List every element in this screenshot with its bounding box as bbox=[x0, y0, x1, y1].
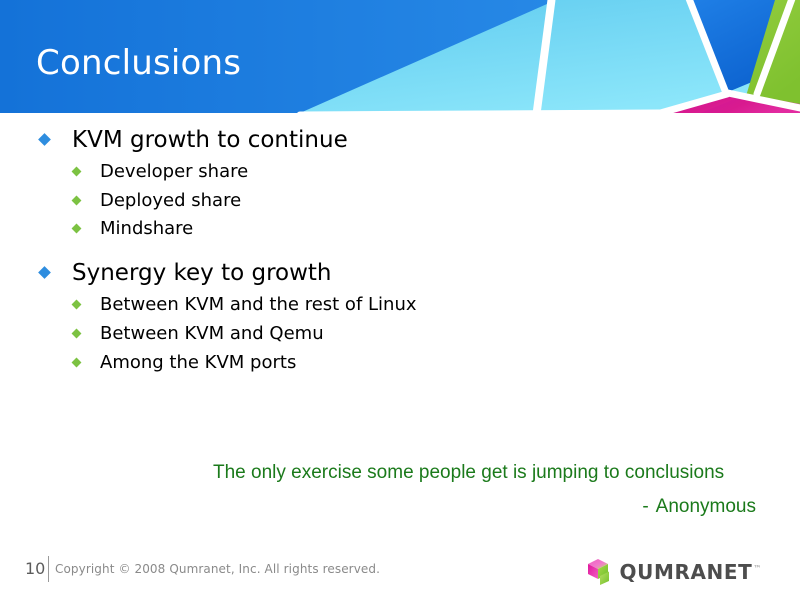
diamond-bullet-icon bbox=[72, 224, 82, 234]
quote-block: The only exercise some people get is jum… bbox=[213, 461, 758, 518]
footer-divider bbox=[48, 556, 49, 582]
bullet-level1-text: Synergy key to growth bbox=[72, 260, 332, 286]
logo-wordmark-text: QUMRANET bbox=[620, 560, 753, 584]
bullet-level2: Mindshare bbox=[0, 217, 760, 241]
bullet-level2: Between KVM and the rest of Linux bbox=[0, 293, 760, 317]
qumranet-cube-icon bbox=[585, 557, 615, 587]
diamond-bullet-icon bbox=[72, 300, 82, 310]
bullet-level1: KVM growth to continue bbox=[0, 126, 760, 156]
diamond-bullet-icon bbox=[72, 357, 82, 367]
page-number: 10 bbox=[25, 559, 45, 578]
bullet-level2-text: Between KVM and Qemu bbox=[100, 323, 324, 344]
bullet-level2: Among the KVM ports bbox=[0, 351, 760, 375]
quote-text: The only exercise some people get is jum… bbox=[213, 461, 758, 486]
slide-footer: 10 Copyright © 2008 Qumranet, Inc. All r… bbox=[0, 550, 800, 600]
bullet-level1-text: KVM growth to continue bbox=[72, 127, 348, 153]
slide-body-content: KVM growth to continue Developer share D… bbox=[0, 126, 760, 379]
bullet-level2: Between KVM and Qemu bbox=[0, 322, 760, 346]
bullet-level2-text: Among the KVM ports bbox=[100, 352, 296, 373]
attribution-dash: - bbox=[642, 496, 648, 517]
bullet-level2: Deployed share bbox=[0, 189, 760, 213]
bullet-level2: Developer share bbox=[0, 160, 760, 184]
bullet-level1: Synergy key to growth bbox=[0, 259, 760, 289]
bullet-level2-text: Mindshare bbox=[100, 218, 193, 239]
diamond-bullet-icon bbox=[72, 328, 82, 338]
quote-attribution: -Anonymous bbox=[213, 496, 758, 518]
trademark-symbol: ™ bbox=[753, 564, 762, 573]
diamond-bullet-icon bbox=[72, 195, 82, 205]
slide-header-banner: Conclusions bbox=[0, 0, 800, 113]
diamond-bullet-icon bbox=[38, 266, 51, 279]
logo-wordmark: QUMRANET™ bbox=[620, 560, 762, 584]
copyright-notice: Copyright © 2008 Qumranet, Inc. All righ… bbox=[55, 562, 380, 576]
bullet-level2-text: Developer share bbox=[100, 161, 248, 182]
bullet-level2-text: Between KVM and the rest of Linux bbox=[100, 294, 417, 315]
qumranet-logo: QUMRANET™ bbox=[585, 557, 762, 587]
diamond-bullet-icon bbox=[72, 166, 82, 176]
presentation-slide: Conclusions KVM growth to continue Devel… bbox=[0, 0, 800, 600]
attribution-name: Anonymous bbox=[656, 496, 756, 517]
slide-title: Conclusions bbox=[36, 43, 241, 83]
diamond-bullet-icon bbox=[38, 133, 51, 146]
bullet-level2-text: Deployed share bbox=[100, 190, 241, 211]
group-spacer bbox=[0, 246, 760, 259]
